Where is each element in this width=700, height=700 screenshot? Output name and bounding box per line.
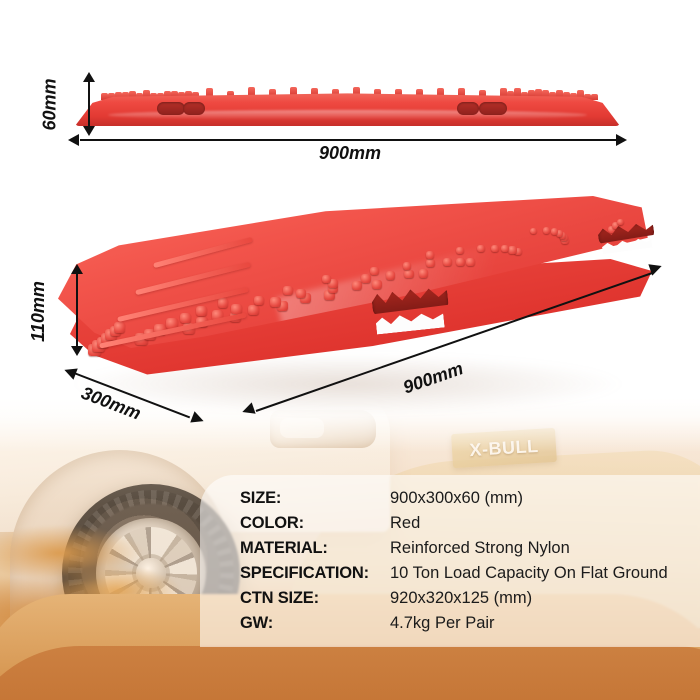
dimension-label-900mm-top: 900mm xyxy=(0,143,700,164)
brand-plate: X-BULL xyxy=(451,428,557,468)
side-view-handle-hole xyxy=(183,102,205,115)
dimension-label-110mm: 110mm xyxy=(10,272,66,350)
dimension-group-900mm-lower: 900mm xyxy=(242,262,668,420)
specification-value: 900x300x60 (mm) xyxy=(390,489,523,508)
traction-nub xyxy=(543,227,550,234)
specification-label: GW: xyxy=(240,614,390,633)
specification-panel: SIZE:900x300x60 (mm)COLOR:RedMATERIAL:Re… xyxy=(200,475,700,647)
traction-nub xyxy=(551,228,558,235)
specification-label: SPECIFICATION: xyxy=(240,564,390,583)
arrow-head-up-60mm xyxy=(83,72,95,82)
product-spec-image: X-BULL 60mm 900mm xyxy=(0,0,700,700)
arrow-head-down-110mm xyxy=(71,346,83,356)
traction-nub xyxy=(508,246,516,254)
dimension-label-300mm: 300mm xyxy=(78,383,143,425)
traction-nub xyxy=(530,228,537,235)
specification-row: GW:4.7kg Per Pair xyxy=(240,614,700,639)
side-view-handle-hole xyxy=(457,102,479,115)
traction-nub xyxy=(218,298,228,308)
specification-value: Red xyxy=(390,514,420,533)
dimension-line-60mm xyxy=(88,80,90,128)
dimension-label-60mm: 60mm xyxy=(24,80,76,128)
traction-nub xyxy=(617,219,624,226)
arrow-head-up-110mm xyxy=(71,264,83,274)
arrow-head-end-900mm-lower xyxy=(648,260,663,275)
dimension-line-110mm xyxy=(76,272,78,348)
traction-nub xyxy=(491,245,499,253)
traction-nub xyxy=(231,304,242,314)
specification-value: 920x320x125 (mm) xyxy=(390,589,532,608)
dimension-group-300mm: 300mm xyxy=(64,366,206,422)
specification-row: MATERIAL:Reinforced Strong Nylon xyxy=(240,539,700,564)
traction-nub xyxy=(196,306,207,316)
specification-label: COLOR: xyxy=(240,514,390,533)
dimension-line-900mm-top xyxy=(80,139,618,141)
product-side-view xyxy=(75,78,620,130)
side-view-stud xyxy=(591,94,598,100)
specification-row: SPECIFICATION:10 Ton Load Capacity On Fl… xyxy=(240,564,700,589)
dimension-label-60mm-text: 60mm xyxy=(40,78,61,130)
traction-nub xyxy=(180,313,191,323)
specification-label: MATERIAL: xyxy=(240,539,390,558)
specification-value: 10 Ton Load Capacity On Flat Ground xyxy=(390,564,668,583)
specification-label: CTN SIZE: xyxy=(240,589,390,608)
arrow-head-down-60mm xyxy=(83,126,95,136)
arrow-head-start-900mm-lower xyxy=(240,402,255,417)
side-view-handle-hole xyxy=(157,102,185,115)
specification-row: CTN SIZE:920x320x125 (mm) xyxy=(240,589,700,614)
specification-label: SIZE: xyxy=(240,489,390,508)
specification-rows: SIZE:900x300x60 (mm)COLOR:RedMATERIAL:Re… xyxy=(240,489,700,647)
side-view-handle-hole xyxy=(479,102,507,115)
arrow-head-start-300mm xyxy=(62,364,78,380)
specification-row: COLOR:Red xyxy=(240,514,700,539)
specification-value: Reinforced Strong Nylon xyxy=(390,539,570,558)
specification-row: SIZE:900x300x60 (mm) xyxy=(240,489,700,514)
dimension-line-900mm-lower xyxy=(256,272,653,412)
dimension-label-110mm-text: 110mm xyxy=(28,281,49,342)
dimension-label-900mm-lower: 900mm xyxy=(401,358,467,398)
traction-nub xyxy=(114,322,125,333)
specification-value: 4.7kg Per Pair xyxy=(390,614,495,633)
traction-nub xyxy=(426,251,434,259)
traction-nub xyxy=(477,245,485,252)
xbull-logo-text: X-BULL xyxy=(469,435,539,460)
dune-near xyxy=(0,646,700,700)
